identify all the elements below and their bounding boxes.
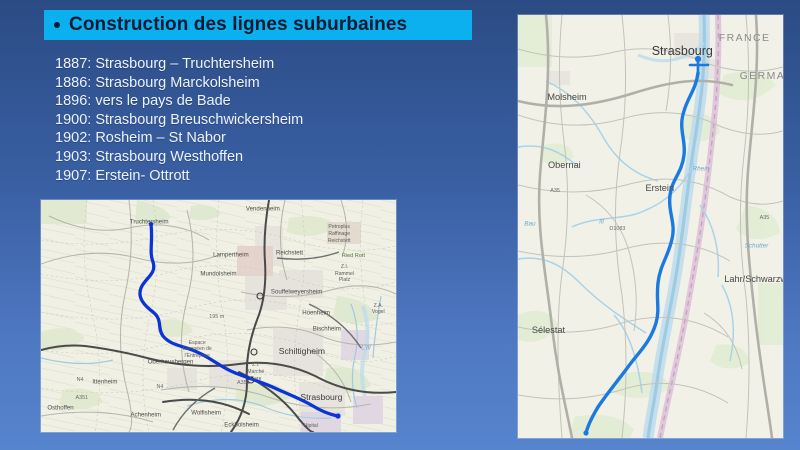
slide-canvas: Construction des lignes suburbaines 1887… bbox=[0, 0, 800, 450]
list-item: 1900: Strasbourg Breuschwickersheim bbox=[55, 111, 475, 130]
slide-title-bar: Construction des lignes suburbaines bbox=[44, 10, 472, 40]
list-item: 1907: Erstein- Ottrott bbox=[55, 167, 475, 186]
list-item: 1903: Strasbourg Westhoffen bbox=[55, 148, 475, 167]
map-left-graphic bbox=[41, 200, 396, 432]
timeline-list: 1887: Strasbourg – Truchtersheim 1886: S… bbox=[55, 55, 475, 185]
list-item: 1896: vers le pays de Bade bbox=[55, 92, 475, 111]
list-item: 1886: Strasbourg Marckolsheim bbox=[55, 74, 475, 93]
map-image-truchtersheim: TruchtersheimVendenheimLampertheimMundol… bbox=[41, 200, 396, 432]
list-item: 1902: Rosheim – St Nabor bbox=[55, 129, 475, 148]
map-image-region: StrasbourgMolsheimObernaiErsteinSélestat… bbox=[518, 15, 783, 438]
list-item: 1887: Strasbourg – Truchtersheim bbox=[55, 55, 475, 74]
map-right-graphic bbox=[518, 15, 783, 438]
bullet-icon bbox=[54, 22, 60, 28]
page-title: Construction des lignes suburbaines bbox=[69, 14, 407, 36]
